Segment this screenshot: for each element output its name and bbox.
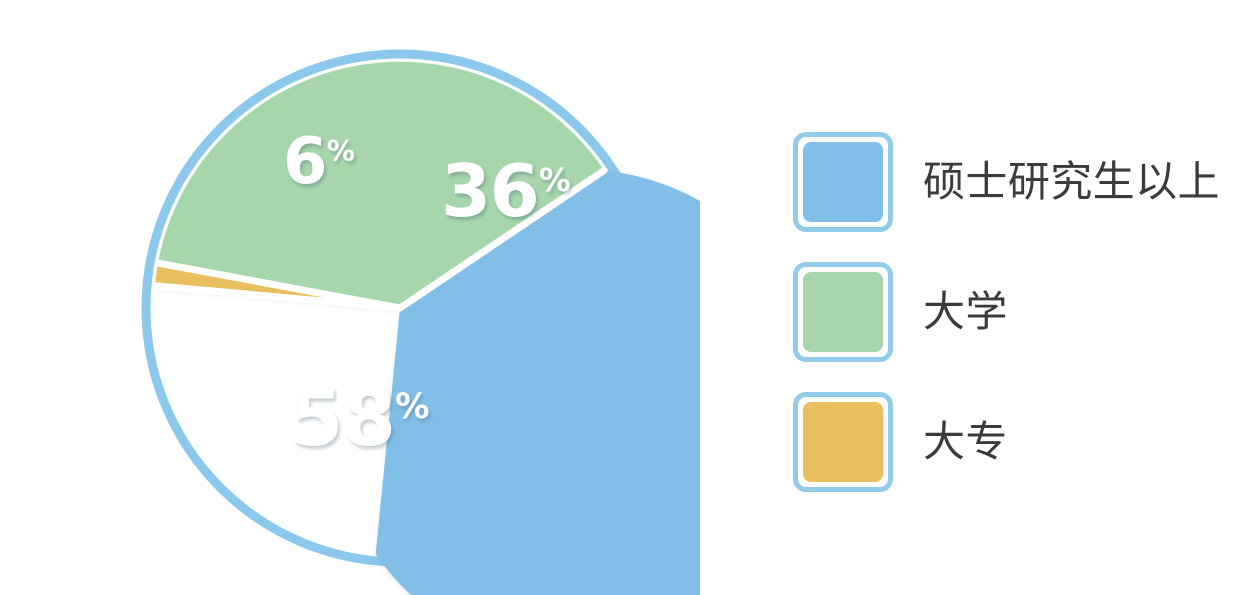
legend-label-2: 大专 (923, 421, 1008, 463)
slice-label-orange: 6% (283, 129, 355, 194)
slice-label-green-symbol: % (539, 163, 571, 199)
legend-item-1[interactable]: 大学 (793, 262, 1233, 362)
legend-label-0: 硕士研究生以上 (923, 161, 1220, 203)
chart-canvas: 58% 36% 6% 硕士研究生以上 大学 大专 (0, 0, 1242, 595)
legend-label-1: 大学 (923, 291, 1008, 333)
slice-label-blue-symbol: % (395, 387, 429, 427)
pie-chart-svg (0, 0, 700, 595)
legend-swatch-blue-fill (803, 142, 883, 222)
slice-label-blue: 58% (289, 379, 430, 458)
legend-swatch-orange (793, 392, 893, 492)
slice-label-orange-symbol: % (327, 135, 355, 168)
slice-label-blue-value: 58 (289, 374, 394, 464)
legend-item-2[interactable]: 大专 (793, 392, 1233, 492)
slice-label-green: 36% (441, 155, 571, 228)
chart-legend: 硕士研究生以上 大学 大专 (793, 132, 1233, 492)
legend-item-0[interactable]: 硕士研究生以上 (793, 132, 1233, 232)
legend-swatch-green-fill (803, 272, 883, 352)
slice-label-green-value: 36 (441, 149, 538, 233)
legend-swatch-blue (793, 132, 893, 232)
legend-swatch-green (793, 262, 893, 362)
legend-swatch-orange-fill (803, 402, 883, 482)
slice-label-orange-value: 6 (283, 125, 326, 199)
pie-chart: 58% 36% 6% (0, 0, 700, 595)
